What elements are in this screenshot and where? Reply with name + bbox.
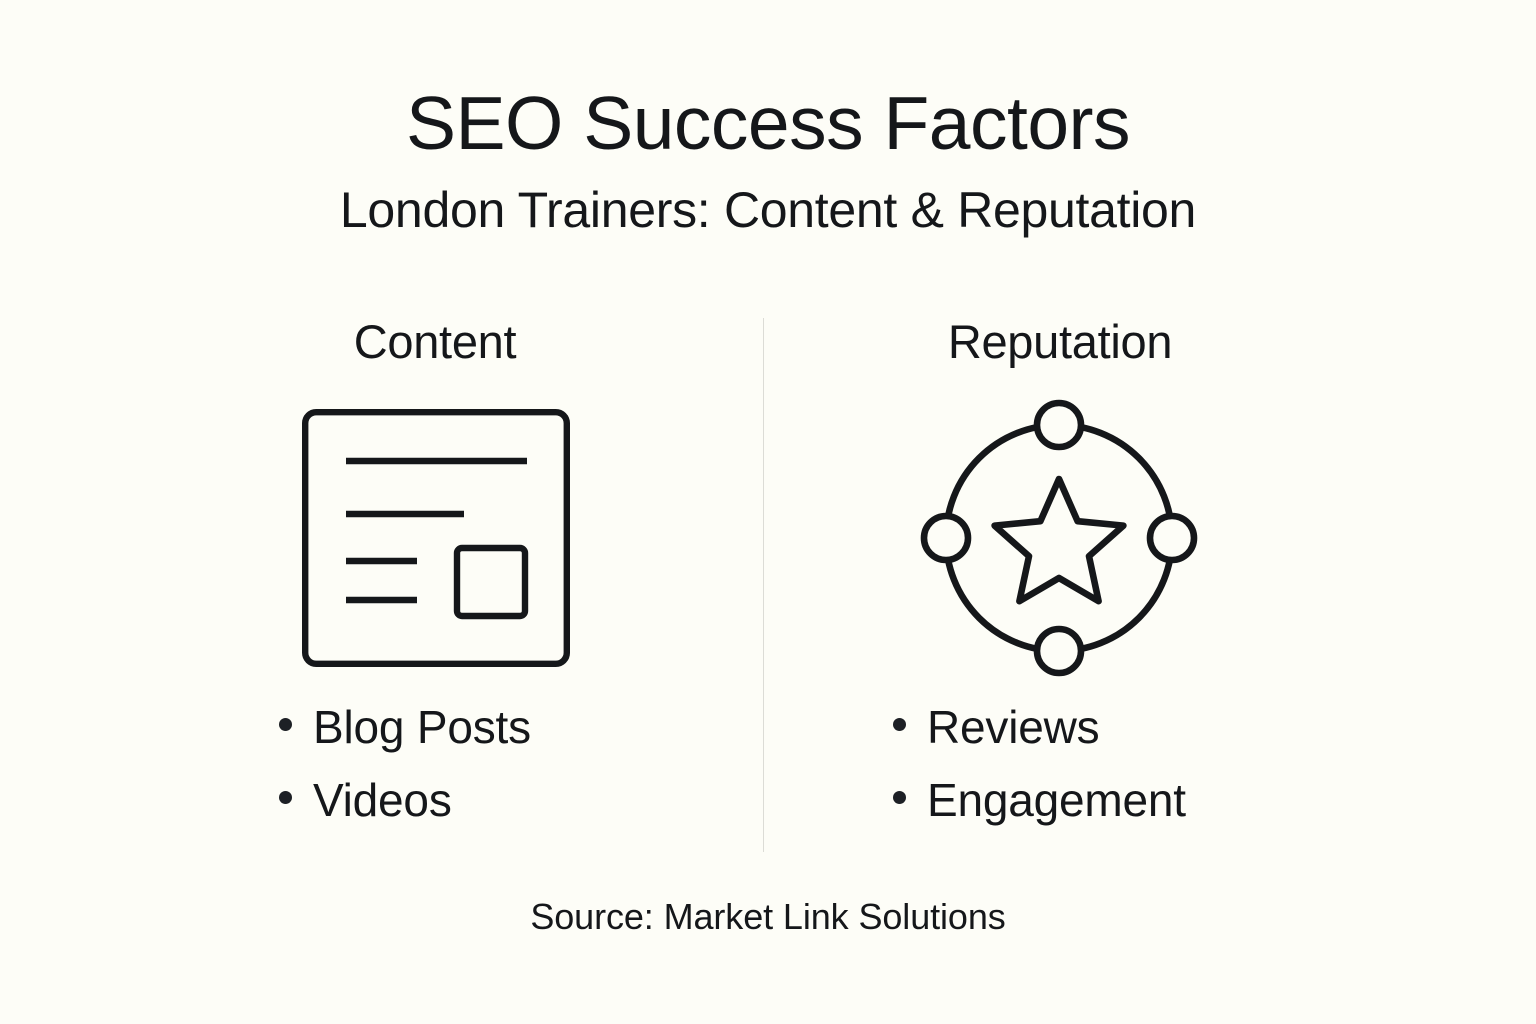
list-item: Engagement <box>893 764 1393 837</box>
column-reputation-header: Reputation <box>730 318 1390 365</box>
reputation-bullet-list: Reviews Engagement <box>733 691 1393 836</box>
list-item: Videos <box>279 764 767 837</box>
bullet-dot-icon <box>279 791 292 804</box>
page-subtitle: London Trainers: Content & Reputation <box>0 185 1536 235</box>
bullet-dot-icon <box>279 718 292 731</box>
page-title: SEO Success Factors <box>0 86 1536 161</box>
column-reputation: Reputation Reviews <box>733 318 1393 852</box>
bullet-dot-icon <box>893 791 906 804</box>
content-bullet-list: Blog Posts Videos <box>107 691 767 836</box>
list-item: Blog Posts <box>279 691 767 764</box>
slide-header: SEO Success Factors London Trainers: Con… <box>0 0 1536 235</box>
bullet-dot-icon <box>893 718 906 731</box>
column-reputation-icon-wrap <box>729 403 1389 673</box>
infographic-slide: SEO Success Factors London Trainers: Con… <box>0 0 1536 1024</box>
column-content-header: Content <box>105 318 765 365</box>
column-content: Content Blog Posts Videos <box>107 318 767 852</box>
list-item-label: Engagement <box>927 764 1186 837</box>
list-item-label: Videos <box>313 764 452 837</box>
list-item: Reviews <box>893 691 1393 764</box>
document-icon <box>302 409 570 667</box>
star-network-icon <box>914 393 1204 683</box>
source-caption: Source: Market Link Solutions <box>0 896 1536 938</box>
list-item-label: Reviews <box>927 691 1099 764</box>
list-item-label: Blog Posts <box>313 691 531 764</box>
column-content-icon-wrap <box>106 403 766 673</box>
